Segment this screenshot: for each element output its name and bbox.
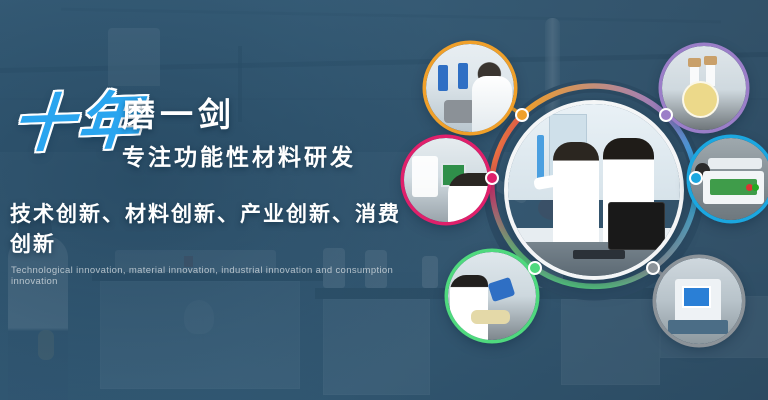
photo-tester-base xyxy=(668,320,728,334)
connector-dot-green xyxy=(528,261,542,275)
photo-cork xyxy=(688,58,701,67)
photo-instrument xyxy=(412,156,437,196)
satellite-photo xyxy=(404,138,488,222)
headline-line-1: 磨一剑 xyxy=(122,98,236,131)
satellite-top-left[interactable] xyxy=(426,44,514,132)
connector-dot-orange xyxy=(515,108,529,122)
photo-keyboard xyxy=(573,250,625,259)
connector-dot-cyan xyxy=(689,171,703,185)
headline-row: 十年 磨一剑 专注功能性材料研发 xyxy=(0,96,420,182)
satellite-left[interactable] xyxy=(404,138,488,222)
satellite-top-right[interactable] xyxy=(662,46,746,130)
satellite-photo xyxy=(656,258,742,344)
photo-handheld-tool xyxy=(488,277,516,302)
central-lab-photo[interactable] xyxy=(508,104,680,276)
headline-block: 十年 磨一剑 专注功能性材料研发 技术创新、材料创新、产业创新、消费创新 Tec… xyxy=(0,96,420,287)
satellite-bottom-right[interactable] xyxy=(656,258,742,344)
photo-technician xyxy=(448,173,488,222)
photo-monitor xyxy=(608,202,665,250)
satellite-photo xyxy=(448,252,536,340)
satellite-photo xyxy=(426,44,514,132)
photo-lab-worker xyxy=(450,275,489,340)
circle-cluster xyxy=(404,28,768,388)
photo-sample-tray xyxy=(471,310,510,324)
connector-dot-purple xyxy=(659,108,673,122)
photo-machine-arm xyxy=(708,158,762,169)
innovation-text-en: Technological innovation, material innov… xyxy=(0,265,420,287)
innovation-text-cn: 技术创新、材料创新、产业创新、消费创新 xyxy=(0,198,420,258)
photo-vessel xyxy=(444,100,476,123)
photo-apparatus xyxy=(537,135,544,180)
photo-glassware xyxy=(438,65,448,91)
photo-cork xyxy=(704,56,717,65)
connector-dot-magenta xyxy=(485,171,499,185)
headline-line-2: 专注功能性材料研发 xyxy=(122,146,356,169)
satellite-bottom-left[interactable] xyxy=(448,252,536,340)
banner-root: 十年 磨一剑 专注功能性材料研发 技术创新、材料创新、产业创新、消费创新 Tec… xyxy=(0,0,768,400)
photo-round-flask xyxy=(682,81,719,118)
satellite-photo xyxy=(662,46,746,130)
photo-tester-screen xyxy=(682,286,711,308)
photo-glassware xyxy=(458,63,468,89)
photo-researcher-left xyxy=(553,142,599,249)
connector-dot-gray xyxy=(646,261,660,275)
